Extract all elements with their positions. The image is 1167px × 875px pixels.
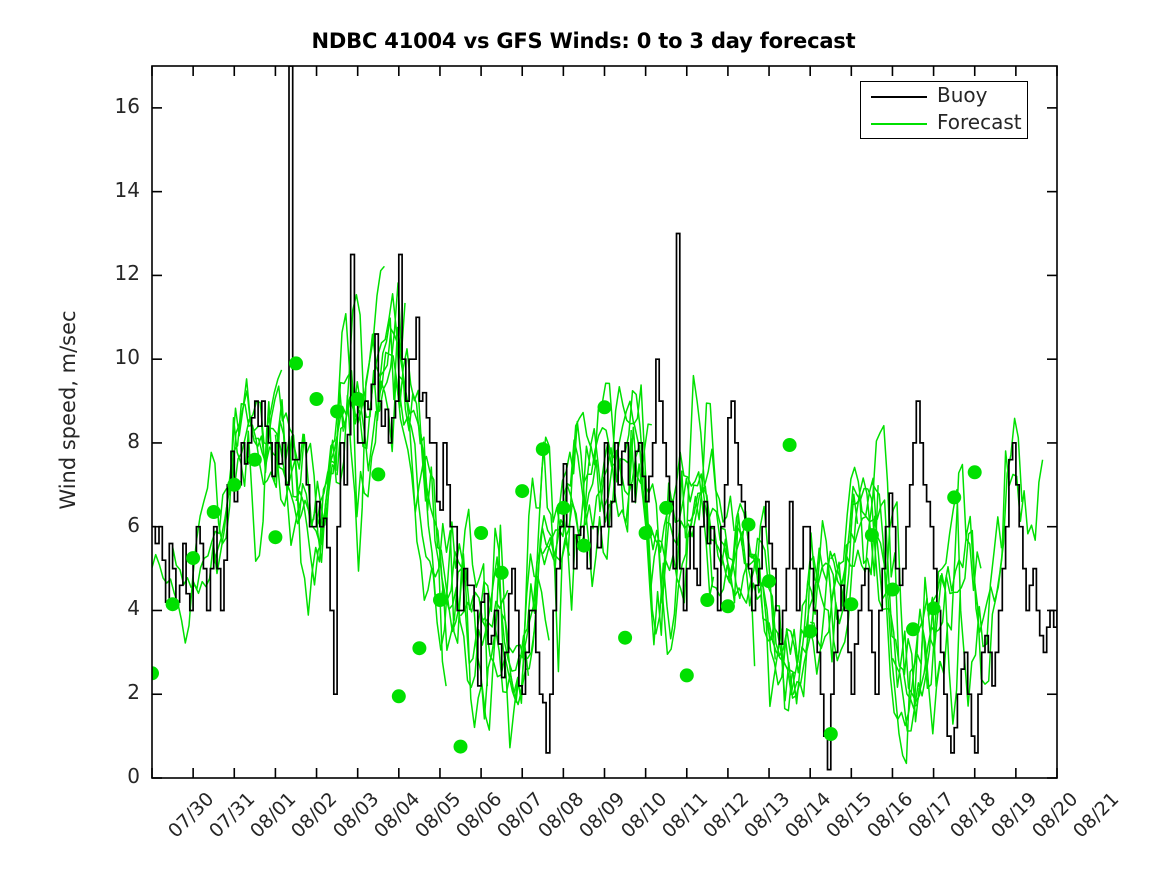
- y-tick-label: 16: [100, 94, 140, 118]
- forecast-marker: [371, 467, 385, 481]
- legend-entry-forecast: Forecast: [861, 109, 1027, 138]
- forecast-marker: [680, 668, 694, 682]
- forecast-marker: [454, 740, 468, 754]
- forecast-marker: [248, 453, 262, 467]
- forecast-marker: [207, 505, 221, 519]
- y-tick-label: 6: [100, 513, 140, 537]
- forecast-marker: [824, 727, 838, 741]
- forecast-marker: [166, 597, 180, 611]
- forecast-marker: [639, 526, 653, 540]
- forecast-marker: [618, 631, 632, 645]
- forecast-marker: [598, 400, 612, 414]
- forecast-marker: [742, 518, 756, 532]
- forecast-marker: [865, 528, 879, 542]
- forecast-marker: [968, 465, 982, 479]
- forecast-marker: [947, 490, 961, 504]
- forecast-marker: [351, 392, 365, 406]
- y-tick-label: 12: [100, 261, 140, 285]
- forecast-marker: [536, 442, 550, 456]
- forecast-marker: [412, 641, 426, 655]
- y-tick-label: 10: [100, 345, 140, 369]
- legend-label-forecast: Forecast: [937, 110, 1022, 134]
- chart-legend: Buoy Forecast: [860, 81, 1028, 139]
- chart-figure: NDBC 41004 vs GFS Winds: 0 to 3 day fore…: [0, 0, 1167, 875]
- legend-entry-buoy: Buoy: [861, 82, 1027, 111]
- y-tick-label: 14: [100, 178, 140, 202]
- forecast-marker: [721, 599, 735, 613]
- forecast-marker: [803, 624, 817, 638]
- forecast-marker: [433, 593, 447, 607]
- y-tick-label: 0: [100, 764, 140, 788]
- forecast-marker: [577, 539, 591, 553]
- forecast-marker: [289, 356, 303, 370]
- legend-swatch-forecast: [871, 123, 927, 125]
- forecast-marker: [495, 566, 509, 580]
- legend-label-buoy: Buoy: [937, 83, 987, 107]
- forecast-marker: [227, 478, 241, 492]
- forecast-marker: [330, 405, 344, 419]
- forecast-marker: [783, 438, 797, 452]
- forecast-marker: [700, 593, 714, 607]
- forecast-marker: [392, 689, 406, 703]
- forecast-marker: [515, 484, 529, 498]
- forecast-marker: [927, 601, 941, 615]
- forecast-marker: [310, 392, 324, 406]
- forecast-marker: [268, 530, 282, 544]
- forecast-marker: [659, 501, 673, 515]
- y-tick-label: 2: [100, 680, 140, 704]
- forecast-marker: [762, 574, 776, 588]
- y-tick-label: 4: [100, 596, 140, 620]
- forecast-marker: [886, 583, 900, 597]
- forecast-marker: [186, 551, 200, 565]
- forecast-marker: [556, 501, 570, 515]
- legend-swatch-buoy: [871, 96, 927, 98]
- y-tick-label: 8: [100, 429, 140, 453]
- forecast-marker: [906, 622, 920, 636]
- forecast-marker: [474, 526, 488, 540]
- forecast-marker: [844, 597, 858, 611]
